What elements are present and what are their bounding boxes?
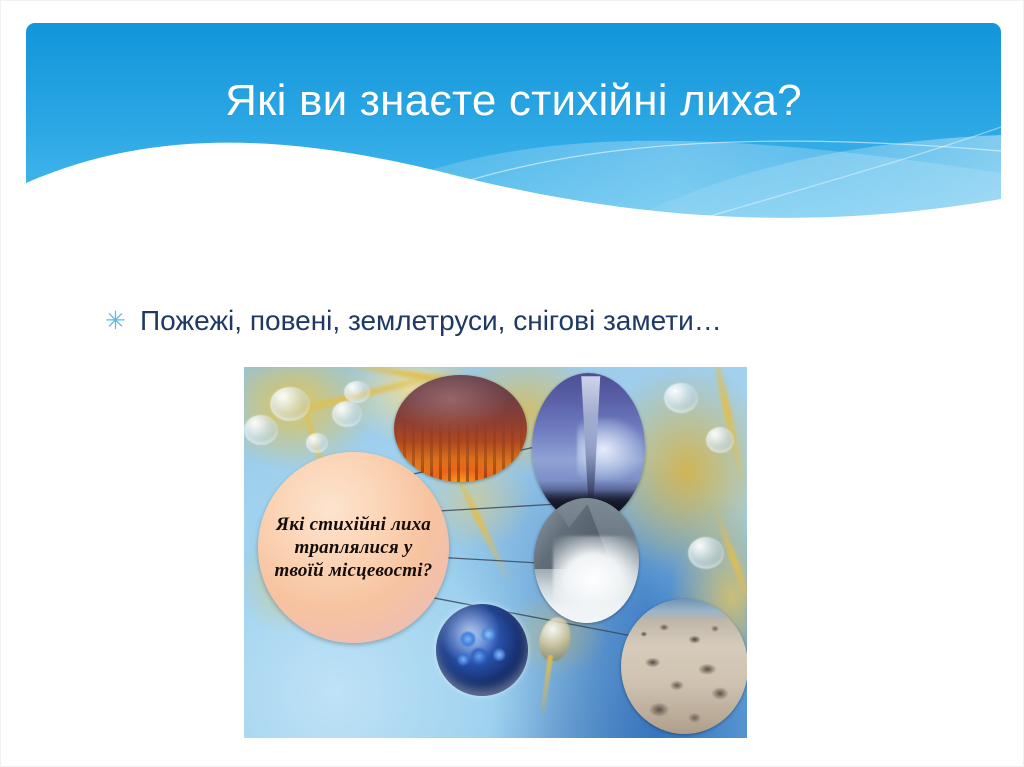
slide-header-band: [26, 23, 1001, 241]
asterisk-bullet-icon: ✳: [105, 304, 126, 338]
fire-smoke: [394, 375, 527, 482]
rubble-debris: [621, 599, 747, 734]
droplet-sphere-with-flowers: [436, 604, 528, 696]
slide: Які ви знаєте стихійні лиха? ✳ Пожежі, п…: [0, 0, 1024, 767]
list-item: ✳ Пожежі, повені, землетруси, снігові за…: [105, 304, 722, 338]
snow-cloud: [553, 536, 639, 609]
header-wave-decoration: [26, 23, 1001, 241]
photo-forest-fire: [394, 375, 527, 482]
question-bubble: Які стихійні лиха траплялися у твоїй міс…: [258, 452, 449, 643]
page-title: Які ви знаєте стихійні лиха?: [26, 77, 1001, 125]
question-bubble-text: Які стихійні лиха траплялися у твоїй міс…: [270, 513, 437, 583]
bullet-text: Пожежі, повені, землетруси, снігові заме…: [140, 304, 722, 338]
blue-flower-reflection: [443, 611, 520, 688]
photo-earthquake-rubble: [621, 599, 747, 734]
collage-image: Які стихійні лиха траплялися у твоїй міс…: [244, 367, 747, 738]
